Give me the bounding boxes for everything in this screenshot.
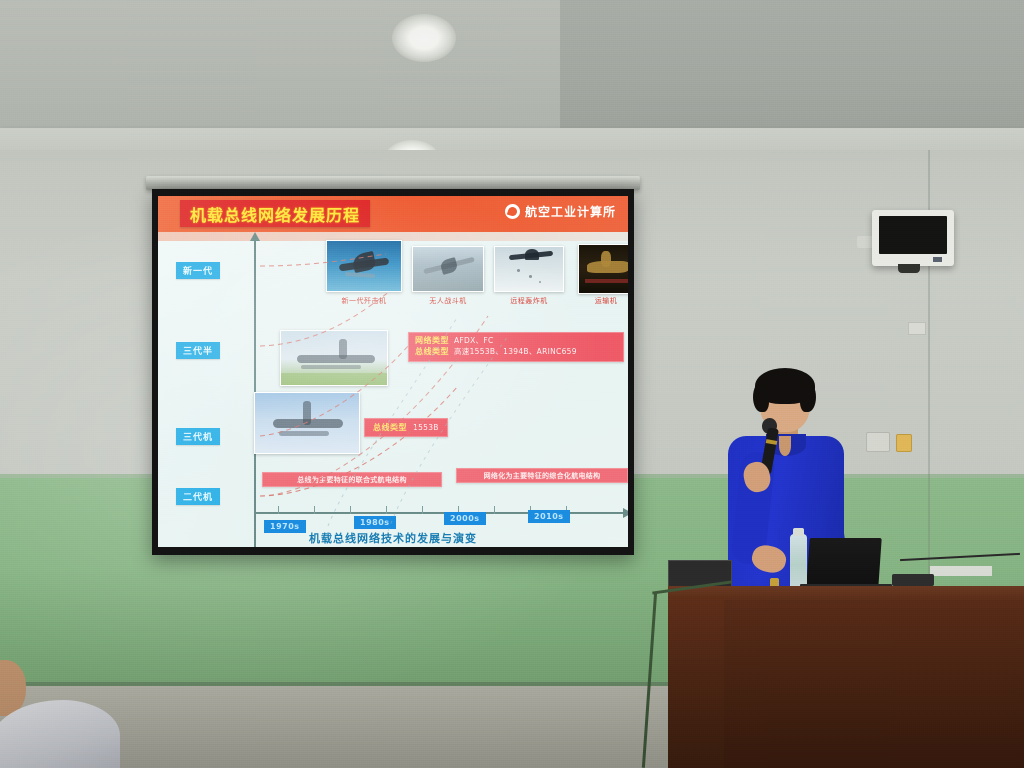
- x-tick: [278, 506, 279, 514]
- slide-title-band: 机载总线网络发展历程 航空工业计算所: [158, 196, 628, 232]
- era-bar-integrated-text: 网络化为主要特征的综合化航电结构: [484, 471, 601, 481]
- podium-body: [724, 600, 1024, 768]
- wall-sign: [908, 322, 926, 335]
- info-row-bus: 总线类型 高速1553B、1394B、ARINC659: [415, 347, 617, 358]
- x-tick: [494, 506, 495, 514]
- wall-outlet-amber: [896, 434, 912, 452]
- swirl-logo-icon: [505, 204, 520, 219]
- info-val-bus: 高速1553B、1394B、ARINC659: [454, 347, 577, 357]
- projection-screen: 机载总线网络发展历程 航空工业计算所: [152, 189, 634, 555]
- podium-left-side: [668, 596, 728, 768]
- info-row-network: 网络类型 AFDX、FC: [415, 336, 617, 347]
- desk-device: [892, 574, 934, 586]
- projection-screen-surface: 机载总线网络发展历程 航空工业计算所: [158, 196, 628, 547]
- x-tick: [314, 506, 315, 514]
- photo-long-range-bomber: [494, 246, 564, 292]
- water-bottle: [790, 534, 807, 590]
- gen-label-2: 二代机: [176, 488, 220, 505]
- photo-ucav: [412, 246, 484, 292]
- photo-gen3-fighter: [254, 392, 360, 454]
- wall-monitor-logo: [933, 257, 942, 262]
- bus-tag-value: 1553B: [413, 423, 439, 432]
- year-label-4: 2010s: [528, 510, 570, 523]
- bottle-cap: [793, 528, 804, 536]
- era-bar-federated: 总线为主要特征的联合式航电结构: [262, 472, 442, 487]
- audience-shoulder: [0, 700, 120, 768]
- ceiling-light-1: [392, 14, 456, 62]
- photo-next-gen-fighter: [326, 240, 402, 292]
- info-key-network: 网络类型: [415, 336, 449, 347]
- wall-monitor-icon: [872, 210, 954, 266]
- brand-name: 航空工业计算所: [525, 203, 616, 220]
- network-bus-info-box: 网络类型 AFDX、FC 总线类型 高速1553B、1394B、ARINC659: [408, 332, 624, 362]
- speaker-collar-opening: [779, 436, 791, 456]
- slide-caption: 机载总线网络技术的发展与演变: [158, 530, 628, 546]
- ceiling-step: [0, 0, 560, 132]
- era-bar-federated-text: 总线为主要特征的联合式航电结构: [297, 475, 407, 485]
- info-key-bus: 总线类型: [415, 347, 449, 358]
- year-label-3: 2000s: [444, 512, 486, 525]
- wall-monitor-base: [898, 264, 920, 273]
- x-tick: [350, 506, 351, 514]
- bus-type-tag: 总线类型 1553B: [364, 418, 448, 437]
- conference-room-photo: 机载总线网络发展历程 航空工业计算所: [0, 0, 1024, 768]
- photo-transport-aircraft: [578, 244, 628, 294]
- presentation-slide: 机载总线网络发展历程 航空工业计算所: [158, 196, 628, 547]
- photo-caption-3: 远程轰炸机: [494, 296, 564, 306]
- page-title: 机载总线网络发展历程: [190, 202, 360, 226]
- slide-title-block: 机载总线网络发展历程: [180, 200, 370, 227]
- laptop-screen: [806, 538, 881, 588]
- x-tick: [386, 506, 387, 514]
- projection-screen-roller: [146, 176, 640, 190]
- gen-label-3p5: 三代半: [176, 342, 220, 359]
- photo-caption-2: 无人战斗机: [412, 296, 484, 306]
- speaker-hair-right: [800, 382, 816, 412]
- photo-caption-4: 运输机: [578, 296, 628, 306]
- wall-outlet: [866, 432, 890, 452]
- speaker-hair-left: [753, 382, 769, 412]
- bus-tag-key: 总线类型: [373, 422, 407, 433]
- year-label-2: 1980s: [354, 516, 396, 529]
- era-bar-integrated: 网络化为主要特征的综合化航电结构: [456, 468, 628, 483]
- desk-papers: [930, 566, 992, 576]
- wall-monitor-screen: [879, 216, 947, 254]
- gen-label-new: 新一代: [176, 262, 220, 279]
- brand-lockup: 航空工业计算所: [505, 203, 616, 220]
- photo-caption-1: 新一代歼击机: [326, 296, 402, 306]
- photo-gen35-fighter: [280, 330, 388, 386]
- info-val-network: AFDX、FC: [454, 336, 494, 346]
- gen-label-3: 三代机: [176, 428, 220, 445]
- x-tick: [422, 506, 423, 514]
